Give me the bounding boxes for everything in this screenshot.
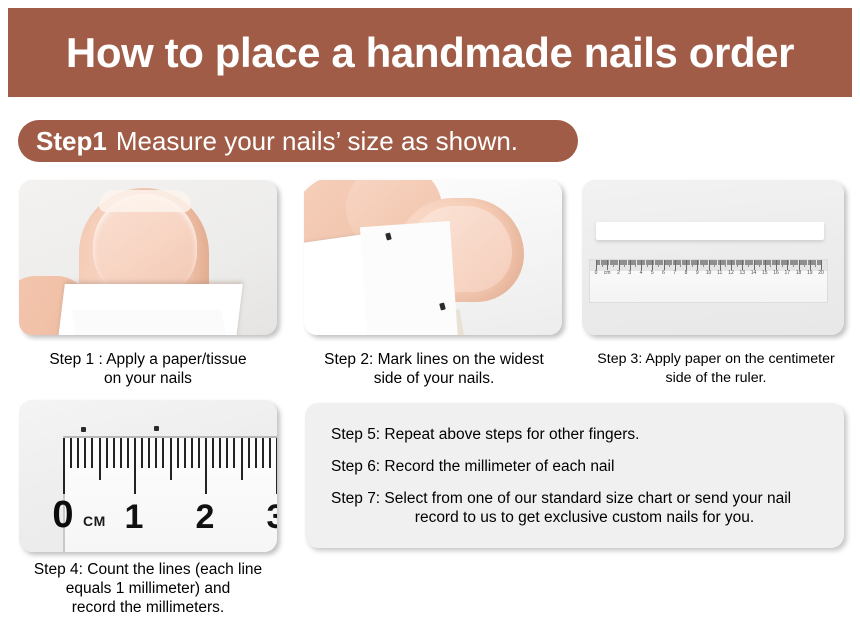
caption-line: side of the ruler. [576, 369, 856, 388]
ruler-tick-label: 12 [728, 271, 734, 276]
header-banner: How to place a handmade nails order [8, 8, 852, 97]
ruler-tick-label: 20 [818, 271, 824, 276]
ruler-tick-label: 17 [784, 271, 790, 276]
step7-line-first: Step 7: Select from one of our standard … [331, 490, 791, 507]
caption-line: Step 3: Apply paper on the centimeter [576, 350, 856, 369]
ruler-tick-label: 7 [673, 271, 676, 276]
step7-line: Step 7: Select from one of our standard … [331, 489, 818, 527]
step1-banner-text: Measure your nails’ size as shown. [116, 128, 518, 154]
pen-mark-right [154, 426, 159, 431]
ruler-zero-label: 0 [52, 496, 73, 534]
ruler-tick-label: 18 [796, 271, 802, 276]
step1-banner-strong: Step1 [36, 128, 107, 154]
ruler-number-2: 2 [196, 500, 215, 534]
ruler-tick-label: 6 [662, 271, 665, 276]
caption-line: equals 1 millimeter) and [10, 579, 286, 598]
ruler-number-3: 3 [267, 500, 277, 534]
step6-line: Step 6: Record the millimeter of each na… [331, 457, 818, 476]
caption-step2: Step 2: Mark lines on the widest side of… [296, 350, 572, 388]
caption-line: side of your nails. [296, 369, 572, 388]
photo-card-step1 [19, 180, 277, 335]
caption-line: record the millimeters. [10, 598, 286, 617]
caption-line: on your nails [10, 369, 286, 388]
ruler-tick-label: 5 [651, 271, 654, 276]
step7-line-second: record to us to get exclusive custom nai… [331, 508, 818, 527]
caption-line: Step 2: Mark lines on the widest [296, 350, 572, 369]
photo-card-step4: 0 CM 1 2 3 [19, 400, 277, 552]
ruler-tick-label: 3 [628, 271, 631, 276]
ruler-tick-label: 13 [739, 271, 745, 276]
ruler-tick-label: 19 [807, 271, 813, 276]
step1-banner: Step1 Measure your nails’ size as shown. [18, 120, 578, 162]
page-title: How to place a handmade nails order [66, 32, 794, 74]
ruler-tick-label: 9 [696, 271, 699, 276]
paper-strip-front-shape [360, 221, 458, 335]
ruler-tick-marks [63, 438, 277, 494]
caption-step3: Step 3: Apply paper on the centimeter si… [576, 350, 856, 388]
photo-card-step2 [304, 180, 562, 335]
caption-line: Step 4: Count the lines (each line [10, 560, 286, 579]
ruler-number-1: 1 [125, 500, 144, 534]
step5-line: Step 5: Repeat above steps for other fin… [331, 425, 818, 444]
caption-step4: Step 4: Count the lines (each line equal… [10, 560, 286, 617]
steps-5-to-7-panel: Step 5: Repeat above steps for other fin… [305, 403, 844, 548]
ruler-tick-label: 10 [706, 271, 712, 276]
ruler-unit-label: CM [83, 514, 106, 528]
ruler-tick-label: 14 [751, 271, 757, 276]
ruler-tick-label: cm [604, 271, 611, 276]
ruler-tick-label: 16 [773, 271, 779, 276]
fingernail-tip-shape [99, 190, 191, 212]
paper-strip-shape [596, 222, 824, 240]
ruler-tick-label: 8 [685, 271, 688, 276]
ruler-tick-label: 2 [617, 271, 620, 276]
pen-mark-left [81, 427, 86, 432]
ruler-tick-label: 15 [762, 271, 768, 276]
photo-background [582, 180, 844, 335]
ruler-tick-label: 0 [595, 271, 598, 276]
caption-step1: Step 1 : Apply a paper/tissue on your na… [10, 350, 286, 388]
caption-line: Step 1 : Apply a paper/tissue [10, 350, 286, 369]
paper-strip-fold-shape [71, 310, 228, 335]
photo-card-step3: 0cm234567891011121314151617181920 [582, 180, 844, 335]
ruler-shape: 0cm234567891011121314151617181920 [589, 259, 828, 303]
ruler-tick-label: 11 [717, 271, 722, 276]
ruler-number-labels: 0cm234567891011121314151617181920 [590, 271, 827, 283]
ruler-tick-label: 4 [640, 271, 643, 276]
